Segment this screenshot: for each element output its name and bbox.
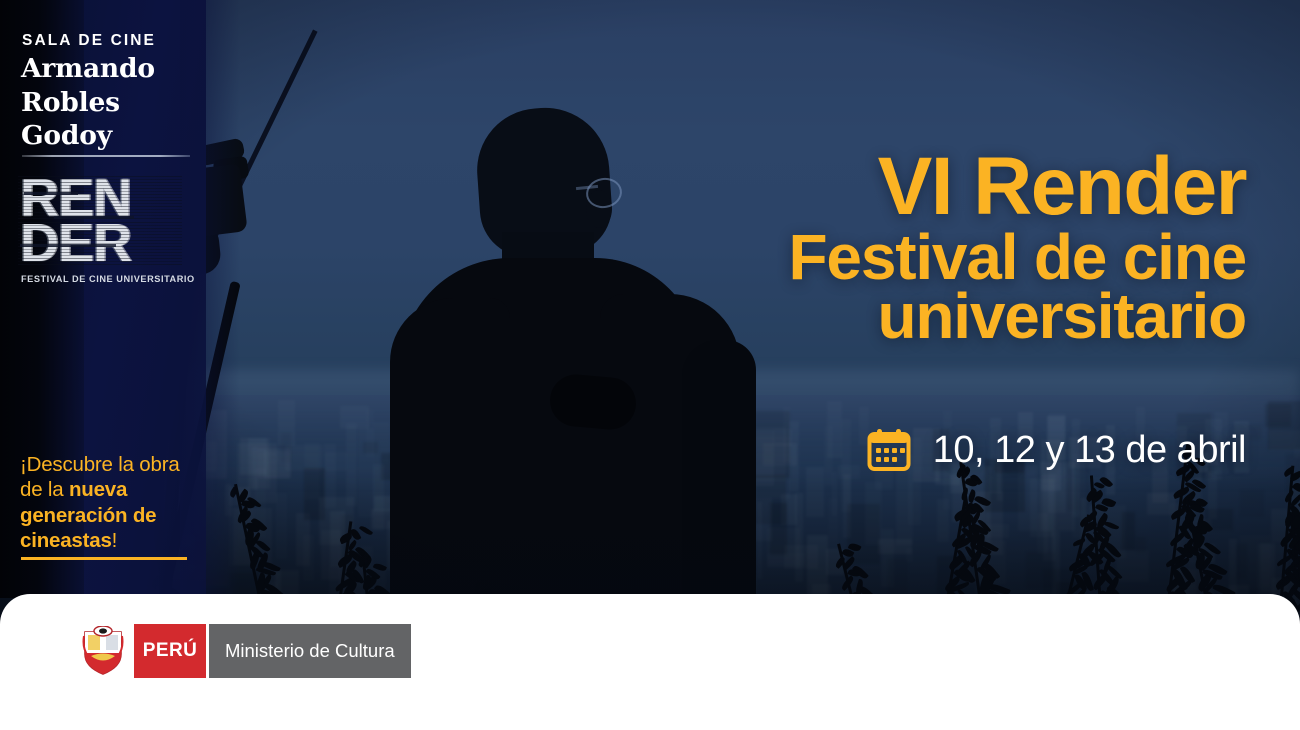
logo-glitch-bar <box>54 216 134 219</box>
calendar-icon <box>867 428 911 472</box>
render-logo-subtitle: FESTIVAL DE CINE UNIVERSITARIO <box>21 274 195 284</box>
event-date-text: 10, 12 y 13 de abril <box>933 429 1246 472</box>
venue-name-line-1: Armando <box>21 52 155 86</box>
venue-name-line-3: Godoy <box>21 119 155 153</box>
logo-glitch-bar <box>20 244 116 247</box>
venue-name: Armando Robles Godoy <box>21 52 155 153</box>
peru-coat-of-arms-icon <box>82 626 124 676</box>
poster-canvas: SALA DE CINE Armando Robles Godoy REN DE… <box>0 0 1300 730</box>
logo-glitch-bar <box>24 192 78 195</box>
title-subline-2: universitario <box>626 284 1246 349</box>
tagline: ¡Descubre la obra de la nueva generación… <box>20 452 204 554</box>
title-main: VI Render <box>626 148 1246 227</box>
ministry-of-culture-logo: PERÚ Ministerio de Cultura <box>82 624 411 678</box>
venue-name-line-2: Robles <box>21 86 155 120</box>
sponsor-footer: PERÚ Ministerio de Cultura Ponle PUNCHE … <box>0 594 1300 730</box>
venue-kicker: SALA DE CINE <box>22 33 156 49</box>
tagline-underline <box>21 557 187 560</box>
tagline-part-2: ! <box>112 529 118 552</box>
main-title-block: VI Render Festival de cine universitario <box>626 148 1246 349</box>
event-date-row: 10, 12 y 13 de abril <box>867 428 1246 472</box>
panel-divider <box>22 155 190 157</box>
ministry-label: Ministerio de Cultura <box>209 624 411 678</box>
render-festival-logo: REN DER FESTIVAL DE CINE UNIVERSITARIO <box>20 176 180 288</box>
peru-label: PERÚ <box>134 624 206 678</box>
